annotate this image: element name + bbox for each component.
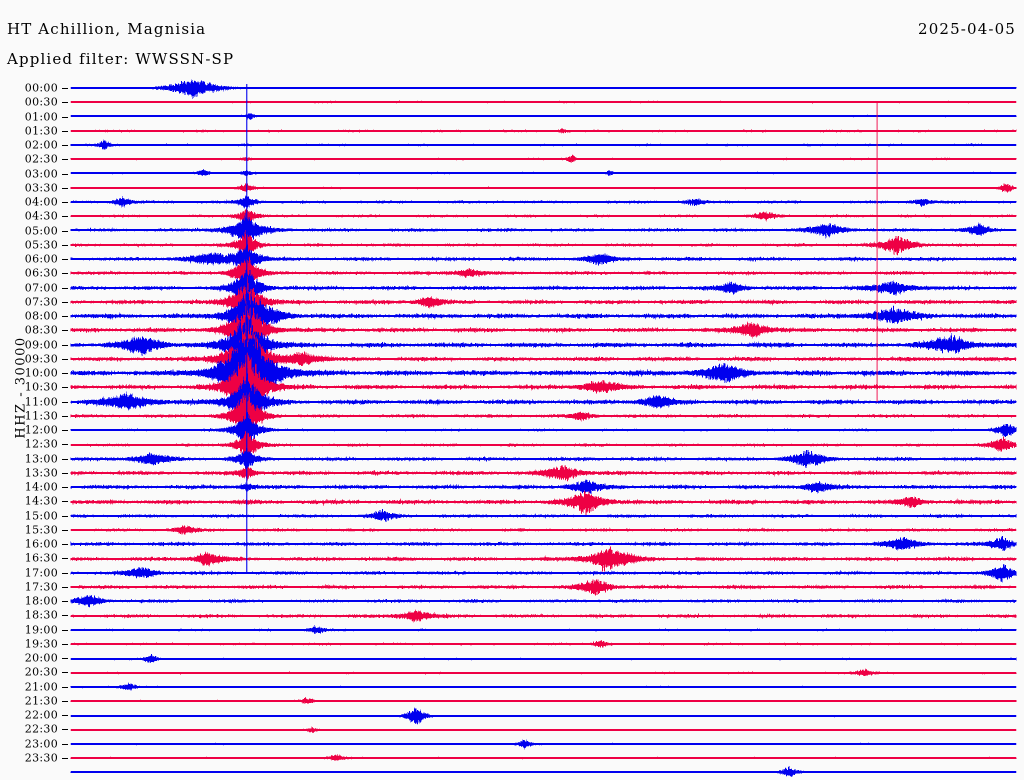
seismic-trace — [71, 230, 1016, 257]
helicorder-page: HT Achillion, Magnisia Applied filter: W… — [0, 0, 1024, 780]
seismic-trace — [71, 301, 1016, 364]
seismogram-plot — [0, 0, 1024, 780]
seismic-trace — [71, 311, 1016, 376]
seismic-trace — [71, 80, 1016, 100]
